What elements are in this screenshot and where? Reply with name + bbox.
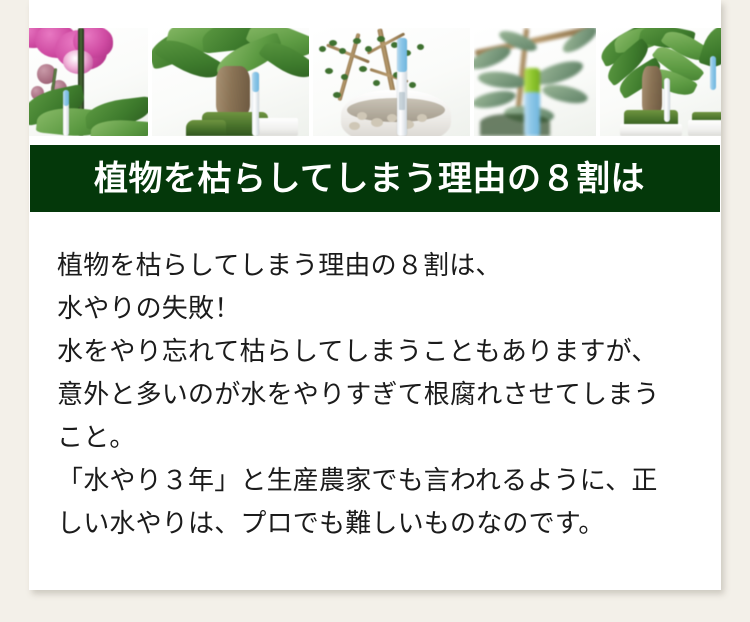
body-copy: 植物を枯らしてしまう理由の８割は、 水やりの失敗！ 水をやり忘れて枯らしてしまう… xyxy=(57,244,697,545)
body-line-7: しい水やりは、プロでも難しいものなのです。 xyxy=(57,502,697,545)
page-root: 植物を枯らしてしまう理由の８割は 植物を枯らしてしまう理由の８割は、 水やりの失… xyxy=(0,0,750,622)
body-line-5: こと。 xyxy=(57,416,697,459)
content-card: 植物を枯らしてしまう理由の８割は 植物を枯らしてしまう理由の８割は、 水やりの失… xyxy=(29,0,721,590)
banner-title: 植物を枯らしてしまう理由の８割は xyxy=(94,162,645,196)
body-line-6: 「水やり３年」と生産農家でも言われるように、正 xyxy=(57,459,697,502)
body-line-1: 植物を枯らしてしまう理由の８割は、 xyxy=(57,244,697,287)
section-banner: 植物を枯らしてしまう理由の８割は xyxy=(30,145,720,212)
photo-bonsai-in-pot-with-meter xyxy=(313,28,470,136)
body-line-4: 意外と多いのが水をやりすぎて根腐れさせてしまう xyxy=(57,373,697,416)
photo-strip xyxy=(29,28,721,136)
body-line-3: 水をやり忘れて枯らしてしまうこともありますが、 xyxy=(57,330,697,373)
body-line-2: 水やりの失敗！ xyxy=(57,287,697,330)
photo-pachira-in-white-pot xyxy=(600,28,721,136)
photo-orchid-with-moisture-meter xyxy=(29,28,148,136)
photo-pachira-with-moss-and-meter xyxy=(152,28,309,136)
photo-olive-with-green-cap-meter xyxy=(474,28,596,136)
